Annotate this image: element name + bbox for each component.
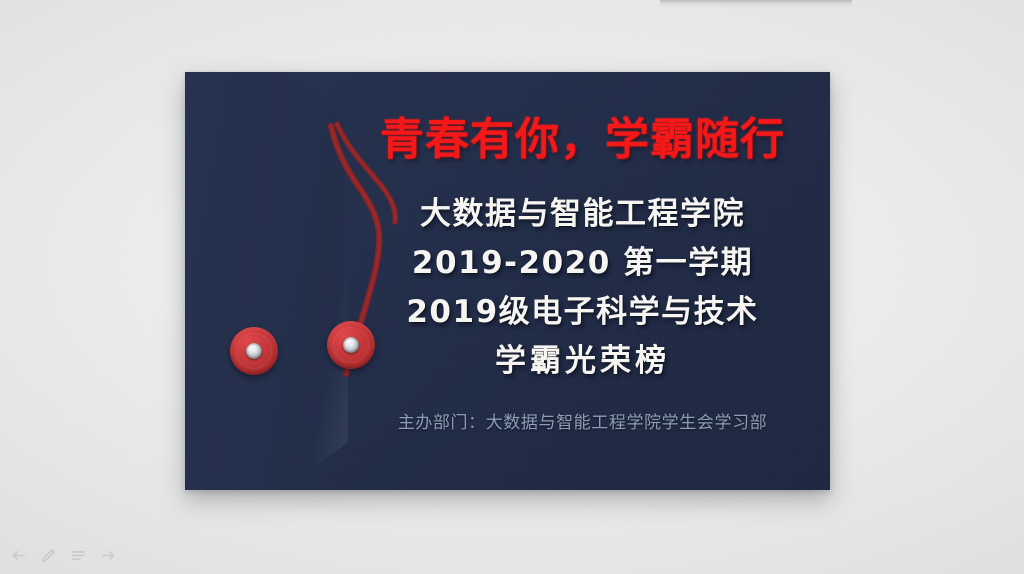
pen-annotation-icon[interactable] — [40, 547, 57, 564]
subtitle-line-major: 2019级电子科学与技术 — [335, 288, 830, 337]
slide-organizer-credit: 主办部门：大数据与智能工程学院学生会学习部 — [335, 408, 830, 433]
navy-paper-envelope: 青春有你，学霸随行 大数据与智能工程学院 2019-2020 第一学期 2019… — [185, 72, 830, 490]
clasp-eyelet-icon — [246, 343, 262, 359]
envelope-clasp-button-left — [230, 327, 278, 375]
slide-subtitle-block: 大数据与智能工程学院 2019-2020 第一学期 2019级电子科学与技术 学… — [335, 190, 830, 386]
slide-headline: 青春有你，学霸随行 — [335, 117, 830, 163]
subtitle-line-honor-roll: 学霸光荣榜 — [335, 337, 830, 386]
presentation-control-toolbar[interactable] — [10, 547, 117, 564]
slide-text-column: 青春有你，学霸随行 大数据与智能工程学院 2019-2020 第一学期 2019… — [335, 72, 830, 490]
previous-slide-icon[interactable] — [10, 547, 27, 564]
next-slide-icon[interactable] — [100, 547, 117, 564]
envelope-left-flap — [185, 72, 345, 490]
slide-menu-icon[interactable] — [70, 547, 87, 564]
hidden-toolbar-shadow — [660, 0, 852, 7]
presentation-slide-stage: 青春有你，学霸随行 大数据与智能工程学院 2019-2020 第一学期 2019… — [0, 0, 1024, 574]
subtitle-line-term: 2019-2020 第一学期 — [335, 239, 830, 288]
subtitle-line-college: 大数据与智能工程学院 — [335, 190, 830, 239]
